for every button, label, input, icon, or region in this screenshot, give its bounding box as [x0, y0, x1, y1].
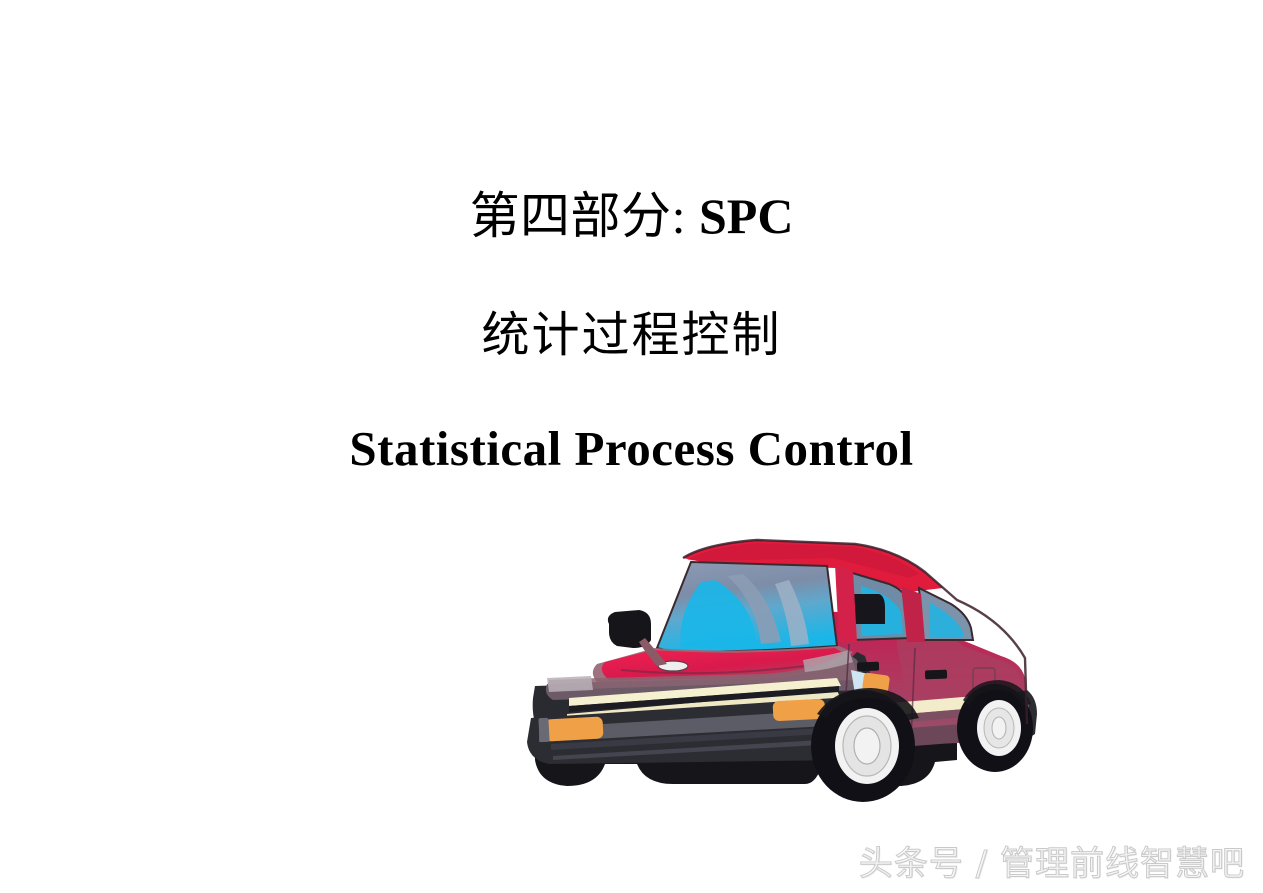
title-part-label: 第四部分 — [470, 188, 672, 244]
watermark-text: 头条号 / 管理前线智慧吧 — [859, 847, 1245, 881]
subtitle-english: Statistical Process Control — [0, 423, 1263, 474]
left-turn-indicator — [544, 716, 603, 741]
right-turn-indicator — [773, 699, 826, 722]
subtitle-chinese: 统计过程控制 — [0, 311, 1263, 361]
title-colon: : — [672, 188, 699, 244]
rear-door-handle — [925, 670, 947, 680]
slide-canvas: 第四部分: SPC 统计过程控制 Statistical Process Con… — [0, 0, 1263, 893]
page-title-chinese-heading: 第四部分: SPC — [0, 190, 1263, 243]
headlight-left — [547, 676, 593, 692]
front-door-handle — [857, 662, 879, 672]
title-acronym-spc: SPC — [699, 188, 793, 244]
title-block: 第四部分: SPC 统计过程控制 Statistical Process Con… — [0, 190, 1263, 474]
car-illustration — [505, 528, 1075, 806]
